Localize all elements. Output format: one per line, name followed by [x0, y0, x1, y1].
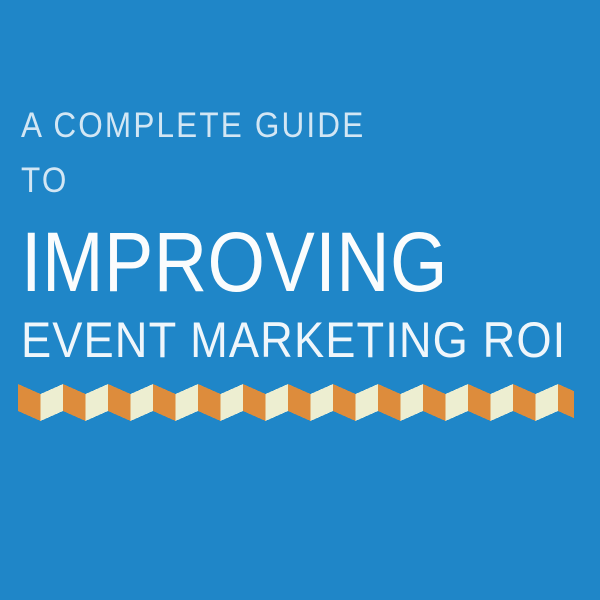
title-slide: A COMPLETE GUIDE TO IMPROVING EVENT MARK…: [0, 0, 600, 600]
chevron-segment-orange: [243, 384, 266, 421]
chevron-segment-cream: [176, 384, 199, 421]
headline: IMPROVING: [21, 214, 522, 310]
chevron-segment-cream: [221, 384, 244, 421]
chevron-segment-orange: [333, 384, 356, 421]
chevron-segment-cream: [491, 384, 514, 421]
eyebrow-line-1: A COMPLETE GUIDE: [21, 98, 533, 153]
chevron-segment-cream: [401, 384, 424, 421]
chevron-segment-cream: [536, 384, 559, 421]
zigzag-chevron-band: [18, 384, 574, 421]
chevron-segment-cream: [446, 384, 469, 421]
eyebrow-line-2: TO: [21, 153, 533, 208]
chevron-segment-orange: [378, 384, 401, 421]
chevron-segment-cream: [311, 384, 334, 421]
chevron-segment-orange: [468, 384, 491, 421]
chevron-segment-orange: [198, 384, 221, 421]
chevron-segment-orange: [63, 384, 86, 421]
chevron-segment-orange: [288, 384, 311, 421]
chevron-segment-cream: [41, 384, 64, 421]
title-block: A COMPLETE GUIDE TO IMPROVING EVENT MARK…: [21, 98, 590, 368]
chevron-segment-cream: [86, 384, 109, 421]
subheadline: EVENT MARKETING ROI: [21, 312, 536, 368]
chevron-segment-orange: [153, 384, 176, 421]
chevron-segment-cream: [356, 384, 379, 421]
chevron-segment-cream: [266, 384, 289, 421]
chevron-segment-orange: [558, 384, 574, 421]
chevron-segment-orange: [513, 384, 536, 421]
chevron-segment-cream: [131, 384, 154, 421]
chevron-segment-orange: [18, 384, 41, 421]
chevron-segment-orange: [423, 384, 446, 421]
chevron-segment-orange: [108, 384, 131, 421]
